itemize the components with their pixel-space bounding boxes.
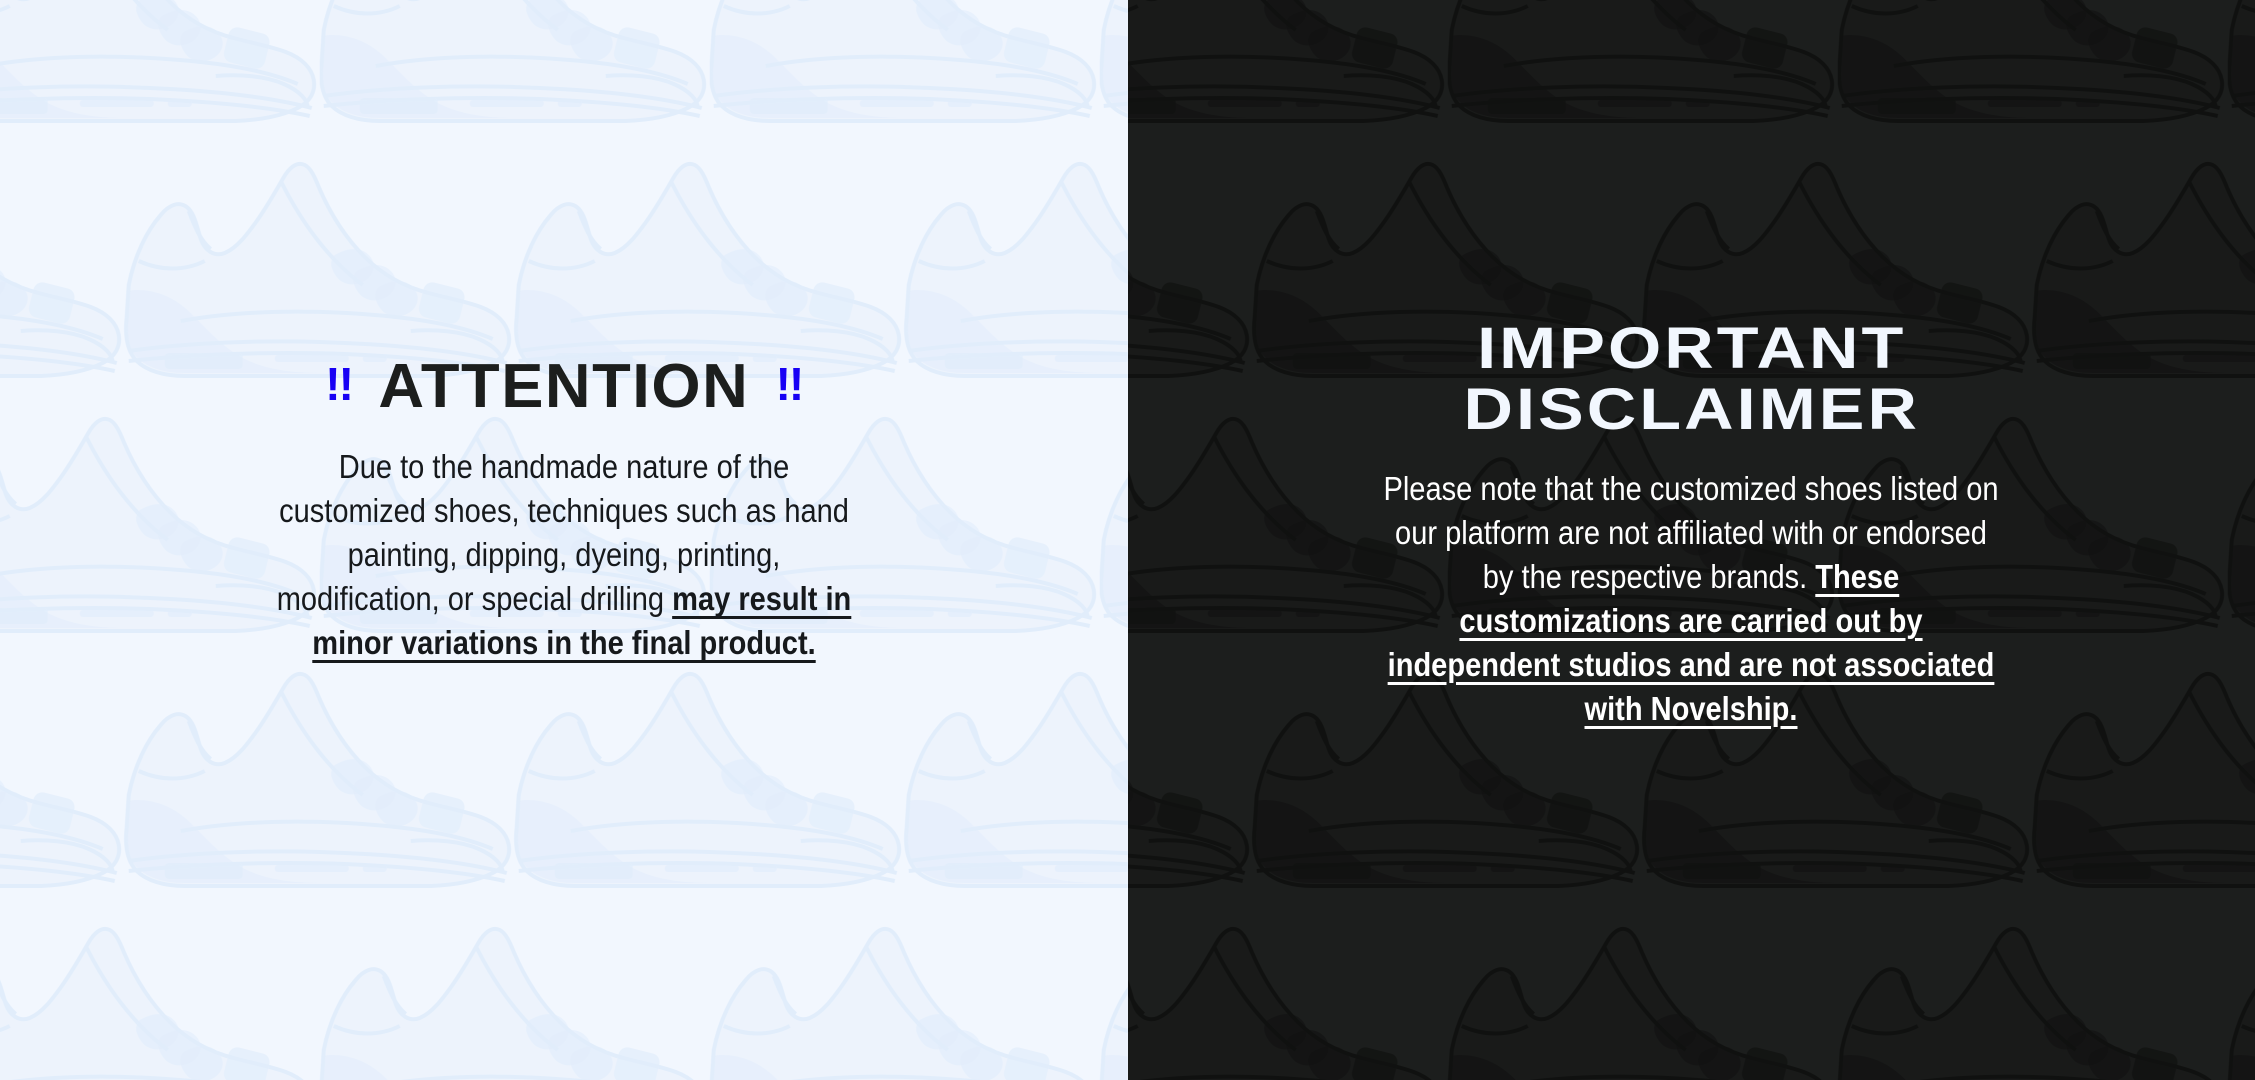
disclaimer-heading: IMPORTANT DISCLAIMER xyxy=(1128,318,2255,441)
disclaimer-body: Please note that the customized shoes li… xyxy=(1383,467,1999,731)
disclaimer-body-lead: Please note that the customized shoes li… xyxy=(1384,470,1999,595)
disclaimer-banner: !! ATTENTION !! Due to the handmade natu… xyxy=(0,0,2255,1080)
attention-panel: !! ATTENTION !! Due to the handmade natu… xyxy=(0,0,1128,1080)
double-exclamation-mark-icon-left: !! xyxy=(325,361,352,407)
attention-body: Due to the handmade nature of the custom… xyxy=(273,445,854,665)
attention-heading: !! ATTENTION !! xyxy=(0,355,1128,419)
disclaimer-panel: IMPORTANT DISCLAIMER Please note that th… xyxy=(1128,0,2255,1080)
double-exclamation-mark-icon-right: !! xyxy=(776,361,803,407)
attention-content: !! ATTENTION !! Due to the handmade natu… xyxy=(0,0,1128,665)
disclaimer-heading-line-1: IMPORTANT xyxy=(1128,318,2255,379)
attention-heading-text: ATTENTION xyxy=(378,355,749,419)
disclaimer-content: IMPORTANT DISCLAIMER Please note that th… xyxy=(1128,0,2255,731)
disclaimer-heading-line-2: DISCLAIMER xyxy=(1128,379,2255,440)
